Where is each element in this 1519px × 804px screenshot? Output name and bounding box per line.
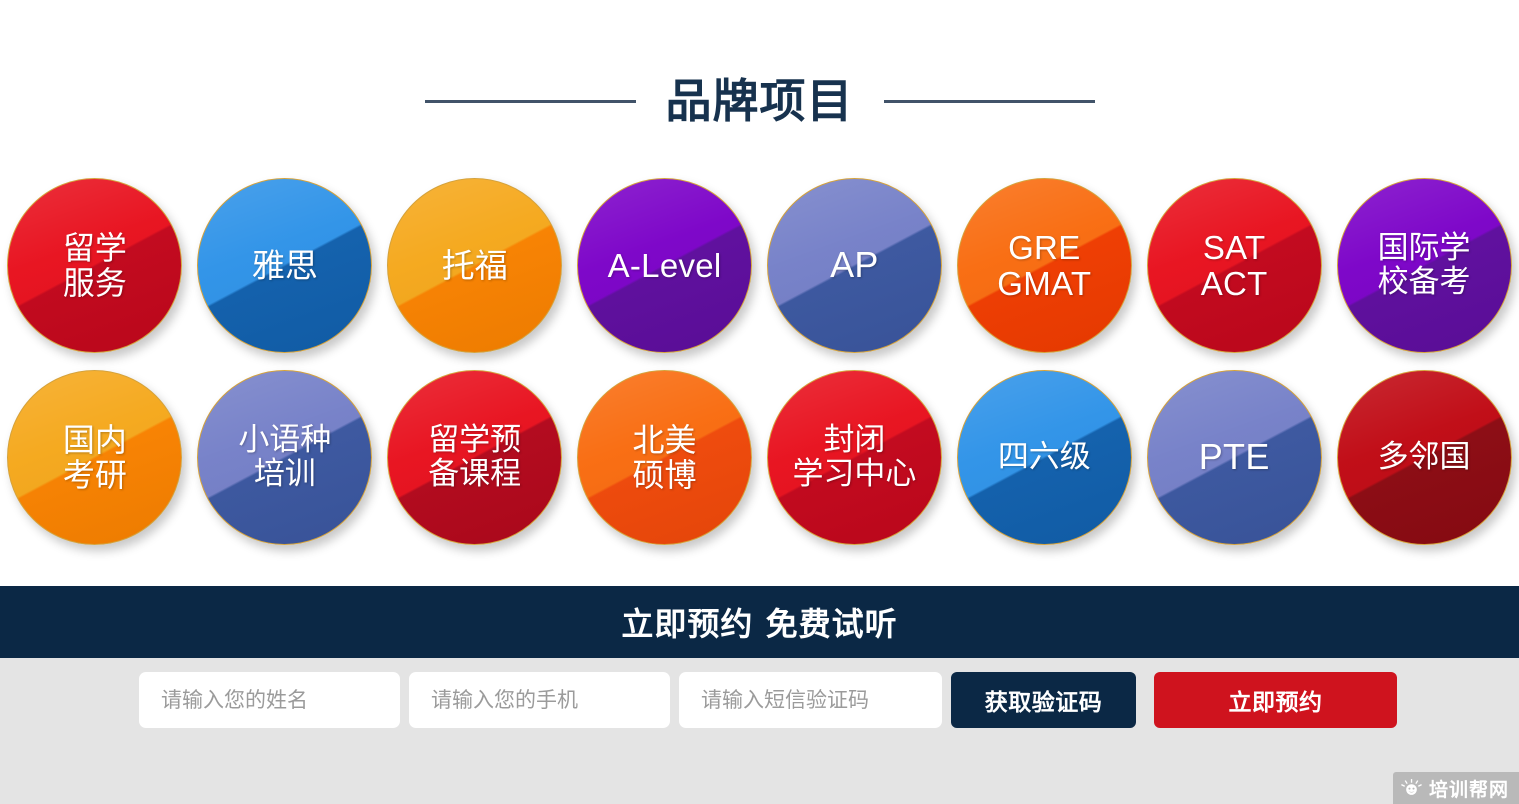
program-label: 北美 硕博 [631, 423, 699, 492]
program-circle-a-level[interactable]: A-Level [577, 178, 752, 353]
submit-appointment-button[interactable]: 立即预约 [1154, 672, 1397, 728]
program-label: 封闭 学习中心 [790, 424, 918, 491]
program-circle-sat-act[interactable]: SAT ACT [1147, 178, 1322, 353]
program-circle-liuxue-fuwu[interactable]: 留学 服务 [7, 178, 182, 353]
appointment-form: 获取验证码 立即预约 [139, 672, 1397, 728]
program-label: 留学 服务 [61, 231, 129, 300]
program-circle-fengbi-zhongxin[interactable]: 封闭 学习中心 [767, 370, 942, 545]
program-label: PTE [1197, 438, 1272, 477]
program-circle-duolingguo[interactable]: 多邻国 [1337, 370, 1512, 545]
name-input[interactable] [139, 672, 400, 728]
title-rule-right [884, 100, 1095, 103]
site-watermark: 培训帮网 [1393, 772, 1519, 804]
program-circle-liuxue-yubei[interactable]: 留学预 备课程 [387, 370, 562, 545]
brand-programs-page: 品牌项目 留学 服务雅思托福A-LevelAPGRE GMATSAT ACT国际… [0, 0, 1519, 804]
get-sms-code-button[interactable]: 获取验证码 [951, 672, 1136, 728]
program-circle-tuofu[interactable]: 托福 [387, 178, 562, 353]
program-label: 小语种 培训 [236, 424, 333, 491]
program-label: 留学预 备课程 [426, 424, 523, 491]
program-label: SAT ACT [1199, 230, 1270, 301]
section-title-row: 品牌项目 [0, 62, 1519, 140]
program-label: GRE GMAT [995, 230, 1093, 301]
page-title: 品牌项目 [666, 78, 854, 124]
program-label: 国内 考研 [61, 423, 129, 492]
program-circle-xiaoyuzhong[interactable]: 小语种 培训 [197, 370, 372, 545]
program-label: 四六级 [996, 441, 1093, 474]
cta-banner-text: 立即预约 免费试听 [621, 599, 897, 645]
program-circle-ap[interactable]: AP [767, 178, 942, 353]
cta-banner: 立即预约 免费试听 [0, 586, 1519, 658]
program-label: A-Level [606, 248, 724, 284]
program-grid: 留学 服务雅思托福A-LevelAPGRE GMATSAT ACT国际学 校备考… [0, 178, 1519, 560]
sms-code-input[interactable] [679, 672, 942, 728]
program-circle-beimei-shuobo[interactable]: 北美 硕博 [577, 370, 752, 545]
sun-face-icon [1401, 778, 1422, 799]
title-rule-left [425, 100, 636, 103]
program-circle-guoji-xuexiao[interactable]: 国际学 校备考 [1337, 178, 1512, 353]
watermark-text: 培训帮网 [1429, 775, 1509, 802]
program-label: AP [828, 246, 881, 285]
program-circle-yasi[interactable]: 雅思 [197, 178, 372, 353]
program-label: 多邻国 [1376, 441, 1473, 474]
program-circle-gre-gmat[interactable]: GRE GMAT [957, 178, 1132, 353]
program-circle-silujiji[interactable]: 四六级 [957, 370, 1132, 545]
program-circle-guonei-kaoyan[interactable]: 国内 考研 [7, 370, 182, 545]
program-circle-pte[interactable]: PTE [1147, 370, 1322, 545]
program-label: 托福 [440, 248, 510, 284]
appointment-form-area: 获取验证码 立即预约 [0, 658, 1519, 804]
program-label: 国际学 校备考 [1376, 232, 1473, 299]
program-label: 雅思 [250, 248, 320, 284]
phone-input[interactable] [409, 672, 670, 728]
